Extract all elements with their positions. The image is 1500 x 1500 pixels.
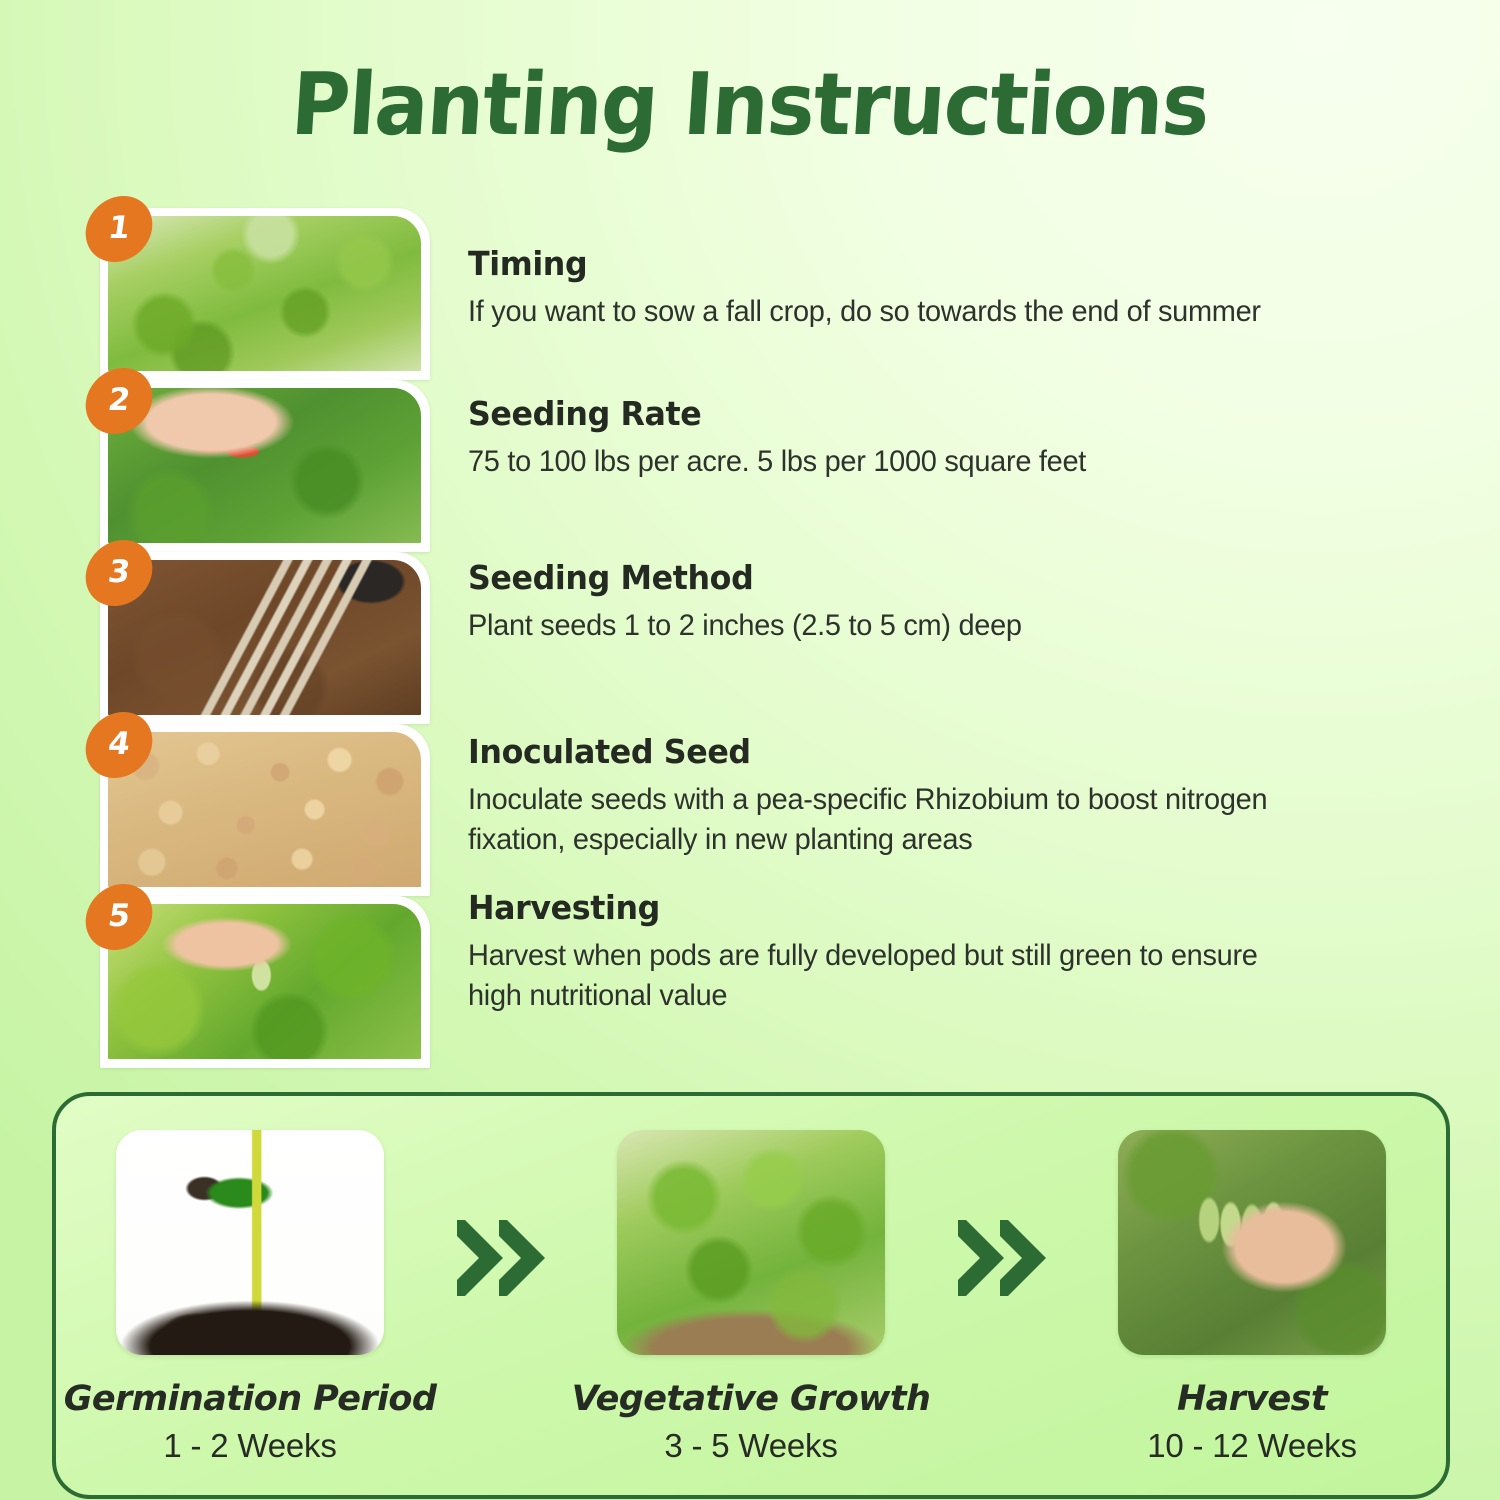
timeline-stage-duration: 10 - 12 Weeks [1147, 1427, 1357, 1465]
timeline-stage-label: Germination Period [64, 1379, 437, 1419]
step-item: 1 Timing If you want to sow a fall crop,… [0, 208, 1500, 380]
pea-plants-growing-photo [617, 1130, 885, 1355]
step-heading: Harvesting [468, 888, 1313, 927]
step-item: 3 Seeding Method Plant seeds 1 to 2 inch… [0, 552, 1500, 724]
hand-holding-pea-pod-photo [108, 388, 421, 543]
timeline-stage-photo [1118, 1130, 1386, 1355]
step-photo-wrap: 4 [100, 724, 430, 896]
step-body: Inoculate seeds with a pea-specific Rhiz… [468, 780, 1317, 860]
page-title: Planting Instructions [289, 62, 1211, 148]
step-text: Seeding Rate 75 to 100 lbs per acre. 5 l… [468, 394, 1348, 482]
step-photo-wrap: 1 [100, 208, 430, 380]
double-chevron-right-icon [949, 1214, 1054, 1302]
timeline-stage-duration: 3 - 5 Weeks [664, 1427, 837, 1465]
timeline-stage-duration: 1 - 2 Weeks [163, 1427, 336, 1465]
double-chevron-right-icon [448, 1214, 553, 1302]
step-text: Seeding Method Plant seeds 1 to 2 inches… [468, 558, 1348, 646]
step-number-label: 3 [106, 554, 133, 590]
pea-seedlings-field-photo [108, 216, 421, 371]
timeline-stage: Germination Period 1 - 2 Weeks [100, 1130, 400, 1465]
rake-in-soil-photo [108, 560, 421, 715]
step-photo-wrap: 3 [100, 552, 430, 724]
step-number-label: 1 [106, 210, 133, 246]
step-heading: Seeding Method [468, 558, 1313, 597]
step-body: 75 to 100 lbs per acre. 5 lbs per 1000 s… [468, 442, 1317, 482]
timeline-stage-photo [116, 1130, 384, 1355]
step-body: Plant seeds 1 to 2 inches (2.5 to 5 cm) … [468, 606, 1317, 646]
timeline-stage: Harvest 10 - 12 Weeks [1102, 1130, 1402, 1465]
step-number-label: 5 [106, 898, 133, 934]
step-heading: Timing [468, 244, 1313, 283]
step-heading: Inoculated Seed [468, 732, 1313, 771]
step-photo-wrap: 2 [100, 380, 430, 552]
step-item: 5 Harvesting Harvest when pods are fully… [0, 896, 1500, 1068]
step-item: 4 Inoculated Seed Inoculate seeds with a… [0, 724, 1500, 896]
step-body: If you want to sow a fall crop, do so to… [468, 292, 1317, 332]
step-text: Timing If you want to sow a fall crop, d… [468, 244, 1348, 332]
sprouting-seed-photo [116, 1130, 384, 1355]
step-heading: Seeding Rate [468, 394, 1313, 433]
timeline-stage-label: Harvest [1177, 1379, 1327, 1419]
step-text: Harvesting Harvest when pods are fully d… [468, 888, 1348, 1016]
timeline-stage-label: Vegetative Growth [572, 1379, 931, 1419]
step-number-label: 4 [106, 726, 133, 762]
growth-timeline-panel: Germination Period 1 - 2 Weeks Vegetativ… [52, 1092, 1450, 1499]
planting-steps-list: 1 Timing If you want to sow a fall crop,… [0, 208, 1500, 1068]
step-number-label: 2 [106, 382, 133, 418]
timeline-stage-photo [617, 1130, 885, 1355]
timeline-stage: Vegetative Growth 3 - 5 Weeks [601, 1130, 901, 1465]
pea-seeds-pile-photo [108, 732, 421, 887]
hand-picking-pea-pod-photo [108, 904, 421, 1059]
page-header: Planting Instructions [0, 62, 1500, 148]
step-text: Inoculated Seed Inoculate seeds with a p… [468, 732, 1348, 860]
handful-of-pea-pods-photo [1118, 1130, 1386, 1355]
step-body: Harvest when pods are fully developed bu… [468, 936, 1317, 1016]
step-item: 2 Seeding Rate 75 to 100 lbs per acre. 5… [0, 380, 1500, 552]
step-photo-wrap: 5 [100, 896, 430, 1068]
